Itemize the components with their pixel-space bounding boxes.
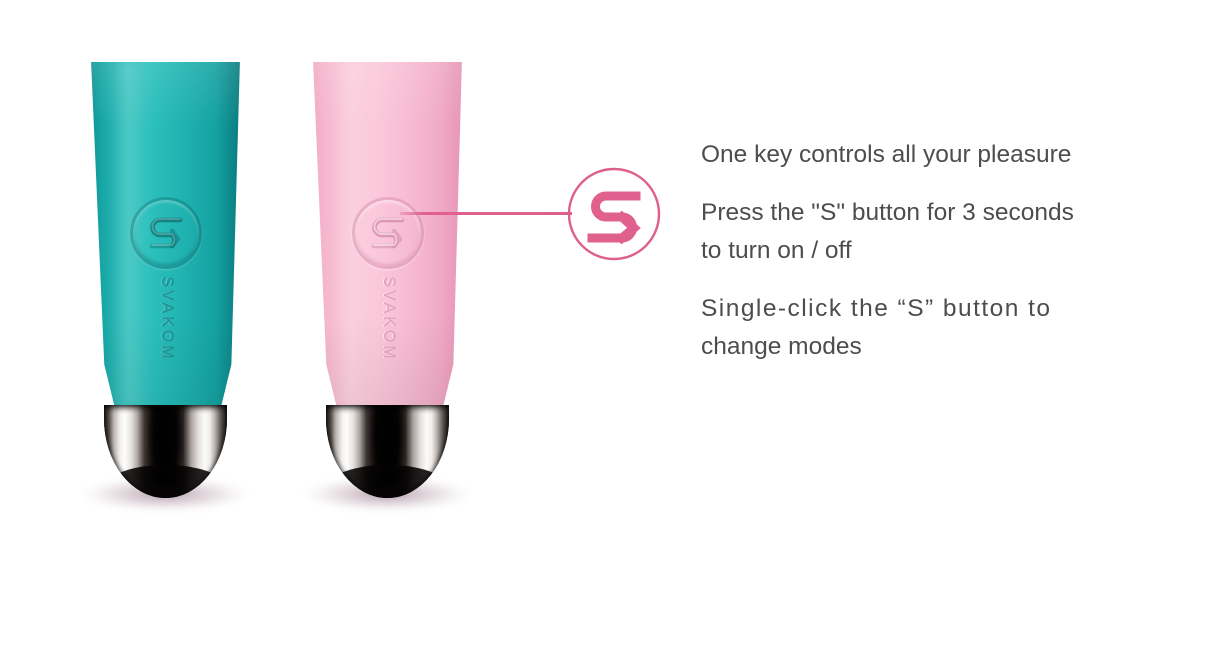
chrome-tip bbox=[326, 405, 449, 498]
product-teal: SVAKOM bbox=[78, 62, 253, 512]
brand-wordmark: SVAKOM bbox=[379, 276, 397, 361]
callout-leader-line bbox=[400, 212, 572, 215]
product-body-teal: SVAKOM bbox=[88, 62, 243, 422]
s-button-pink[interactable] bbox=[352, 197, 424, 269]
paragraph-spacer bbox=[701, 174, 1171, 194]
power-line-1: Press the "S" button for 3 seconds bbox=[701, 194, 1171, 232]
headline-line-1: One key controls all your pleasure bbox=[701, 136, 1171, 174]
s-button-teal[interactable] bbox=[130, 197, 202, 269]
s-badge-icon bbox=[566, 166, 662, 262]
paragraph-spacer bbox=[701, 270, 1171, 290]
instruction-copy: One key controls all your pleasure Press… bbox=[701, 136, 1171, 366]
callout-badge bbox=[566, 166, 662, 262]
product-body-pink: SVAKOM bbox=[310, 62, 465, 422]
s-logo-icon bbox=[368, 212, 408, 254]
brand-wordmark: SVAKOM bbox=[157, 276, 175, 361]
infographic-canvas: SVAKOM SVAKOM bbox=[0, 0, 1210, 663]
product-pink: SVAKOM bbox=[300, 62, 475, 512]
modes-line-2: change modes bbox=[701, 328, 1171, 366]
modes-line-1: Single-click the “S” button to bbox=[701, 290, 1171, 328]
power-line-2: to turn on / off bbox=[701, 232, 1171, 270]
s-logo-icon bbox=[146, 212, 186, 254]
chrome-tip bbox=[104, 405, 227, 498]
